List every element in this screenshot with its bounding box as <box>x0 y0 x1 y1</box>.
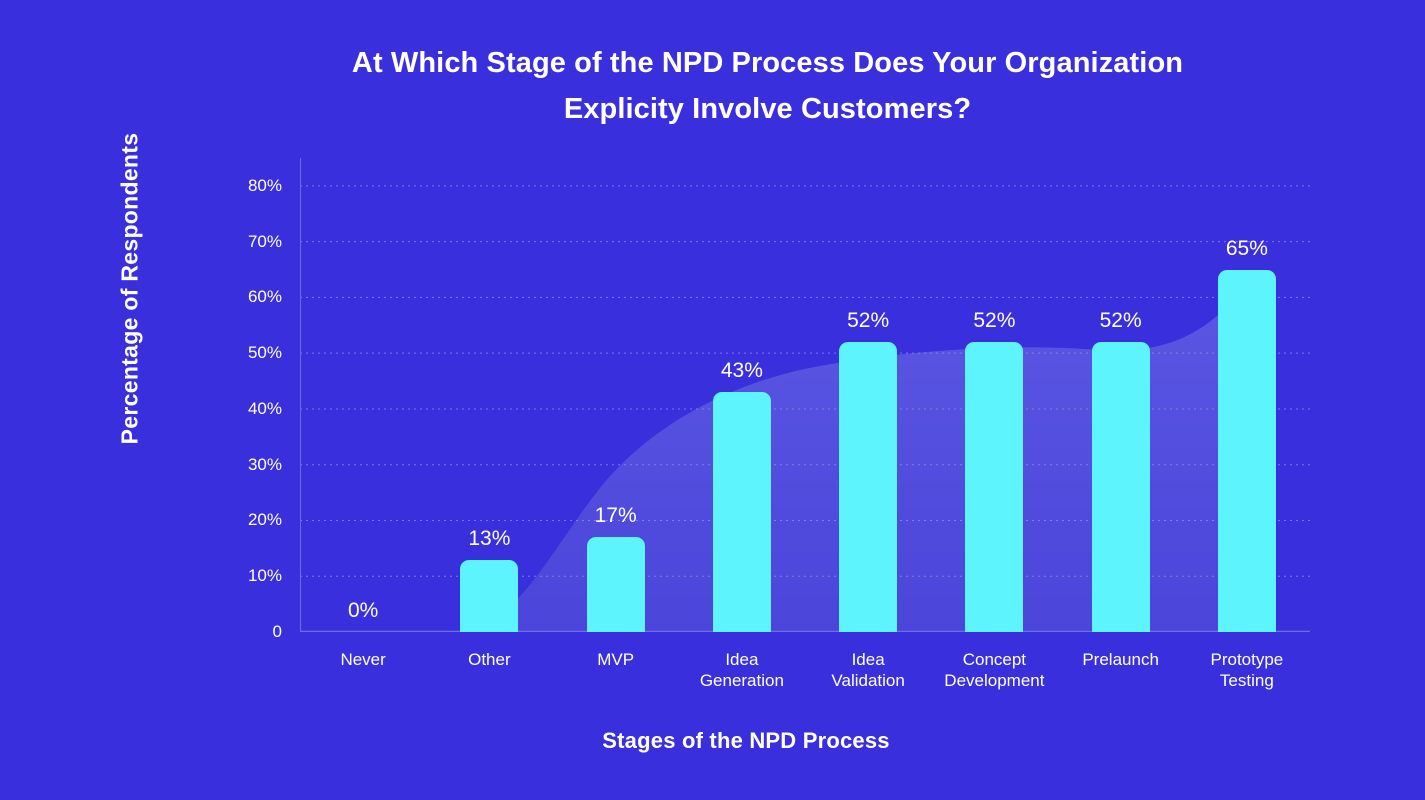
bar[interactable] <box>965 342 1023 632</box>
bar-value-label: 52% <box>973 309 1015 333</box>
y-tick-label: 40% <box>212 399 282 419</box>
plot-area: 0%13%17%43%52%52%52%65% <box>300 158 1310 632</box>
page-title: At Which Stage of the NPD Process Does Y… <box>280 40 1255 132</box>
x-tick-label: MVP <box>597 649 634 670</box>
y-tick-label: 0 <box>212 622 282 642</box>
x-tick-label: Idea Generation <box>700 649 784 691</box>
x-tick-label: Other <box>468 649 511 670</box>
bar-value-label: 43% <box>721 359 763 383</box>
y-tick-label: 30% <box>212 455 282 475</box>
y-tick-label: 70% <box>212 232 282 252</box>
x-tick-label: Idea Validation <box>831 649 904 691</box>
chart-canvas: At Which Stage of the NPD Process Does Y… <box>0 0 1425 800</box>
y-tick-label: 60% <box>212 287 282 307</box>
bar-value-label: 13% <box>468 527 510 551</box>
x-axis-title: Stages of the NPD Process <box>300 728 1192 754</box>
bar-value-label: 52% <box>847 309 889 333</box>
title-line-2: Explicity Involve Customers? <box>280 86 1255 132</box>
bar[interactable] <box>587 537 645 632</box>
y-tick-label: 80% <box>212 176 282 196</box>
x-tick-label: Prelaunch <box>1082 649 1159 670</box>
x-tick-label: Prototype Testing <box>1210 649 1283 691</box>
x-tick-label: Concept Development <box>944 649 1044 691</box>
y-tick-label: 50% <box>212 343 282 363</box>
bar-value-label: 17% <box>595 504 637 528</box>
y-tick-label: 10% <box>212 566 282 586</box>
y-tick-label: 20% <box>212 510 282 530</box>
bar-value-label: 52% <box>1100 309 1142 333</box>
bar[interactable] <box>713 392 771 632</box>
title-line-1: At Which Stage of the NPD Process Does Y… <box>280 40 1255 86</box>
bar[interactable] <box>1218 270 1276 632</box>
bar-value-label: 65% <box>1226 237 1268 261</box>
y-axis-title: Percentage of Respondents <box>117 104 144 474</box>
x-tick-label: Never <box>340 649 385 670</box>
plot-graphics <box>300 158 1310 632</box>
bar-value-label: 0% <box>348 599 378 623</box>
bar[interactable] <box>839 342 897 632</box>
bar[interactable] <box>1092 342 1150 632</box>
bar[interactable] <box>460 560 518 632</box>
